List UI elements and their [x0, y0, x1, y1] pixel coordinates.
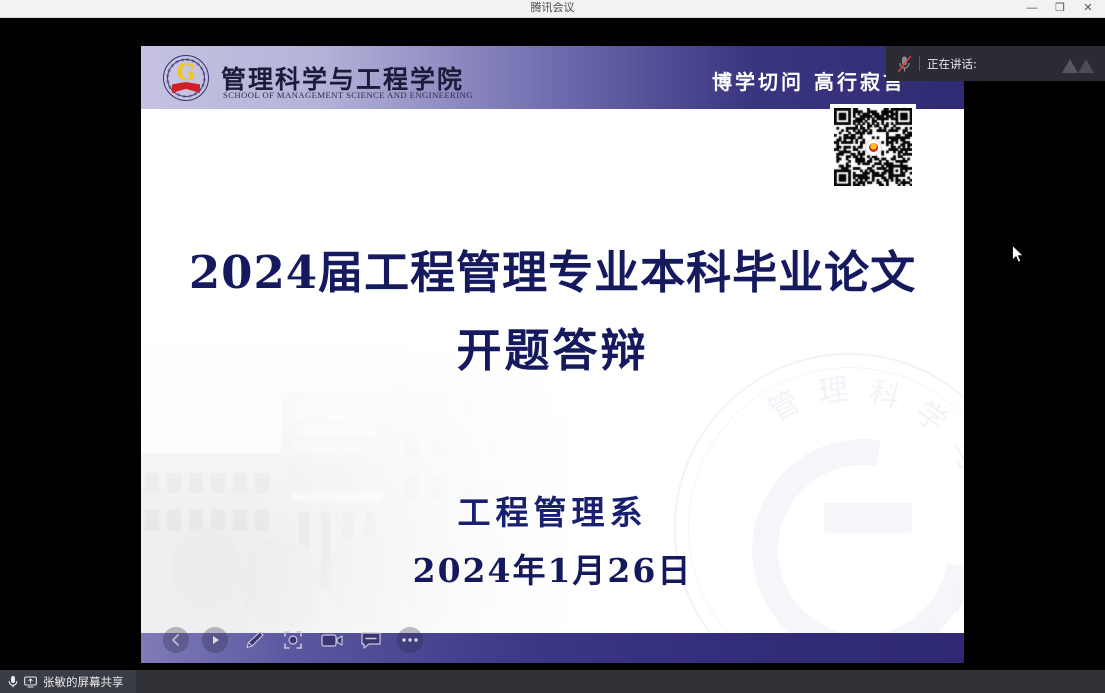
presentation-slide: 管理科学与工程学院 G 管理科学与工程学院 SCHOOL OF MANAGEME…: [141, 46, 964, 663]
speaker-divider: [919, 56, 920, 71]
zoom-region-button[interactable]: [280, 627, 306, 653]
window-title-bar: 腾讯会议 — ❐ ✕: [0, 0, 1105, 18]
school-emblem-icon: G: [163, 55, 209, 101]
video-camera-icon: [320, 630, 344, 650]
previous-slide-button[interactable]: [163, 627, 189, 653]
screen-share-stage: 管理科学与工程学院 G 管理科学与工程学院 SCHOOL OF MANAGEME…: [0, 18, 1105, 670]
comment-button[interactable]: [358, 627, 384, 653]
magnify-region-icon: [282, 629, 304, 651]
close-button[interactable]: ✕: [1075, 0, 1101, 17]
chevron-left-icon: [169, 633, 183, 647]
more-options-button[interactable]: [397, 627, 423, 653]
audio-waveform-icon: [1057, 46, 1099, 81]
screen-share-label: 张敏的屏幕共享: [43, 674, 124, 690]
pen-tool-button[interactable]: [241, 627, 267, 653]
slide-title-main: 2024届工程管理专业本科毕业论文: [141, 236, 964, 301]
meeting-status-bar: 张敏的屏幕共享: [0, 670, 1105, 693]
mouse-cursor: [1012, 245, 1024, 264]
slide-header-band: G 管理科学与工程学院 SCHOOL OF MANAGEMENT SCIENCE…: [141, 46, 964, 109]
active-speaker-bar[interactable]: 正在讲话:: [886, 46, 1105, 81]
school-name-en: SCHOOL OF MANAGEMENT SCIENCE AND ENGINEE…: [223, 90, 473, 100]
ellipsis-icon: [401, 637, 419, 643]
minimize-button[interactable]: —: [1019, 0, 1045, 17]
presentation-date: 2024年1月26日: [141, 544, 964, 592]
play-icon: [208, 633, 222, 647]
qr-code: [830, 104, 916, 190]
emblem-letter: G: [163, 62, 209, 84]
department-name: 工程管理系: [141, 486, 964, 534]
speaking-label: 正在讲话:: [927, 56, 1057, 72]
slide-title-sub: 开题答辩: [141, 314, 964, 379]
presentation-toolbar: [163, 624, 423, 656]
microphone-muted-icon[interactable]: [890, 46, 918, 81]
speech-bubble-icon: [359, 630, 383, 650]
next-slide-button[interactable]: [202, 627, 228, 653]
qr-center-emblem-icon: [865, 139, 882, 156]
screen-share-indicator[interactable]: 张敏的屏幕共享: [0, 670, 136, 693]
window-title: 腾讯会议: [0, 0, 1105, 17]
school-motto: 博学切问 高行寂言: [712, 66, 906, 95]
microphone-icon[interactable]: [8, 675, 18, 688]
screen-share-icon[interactable]: [24, 676, 37, 688]
maximize-button[interactable]: ❐: [1047, 0, 1073, 17]
video-button[interactable]: [319, 627, 345, 653]
pen-icon: [243, 629, 265, 651]
